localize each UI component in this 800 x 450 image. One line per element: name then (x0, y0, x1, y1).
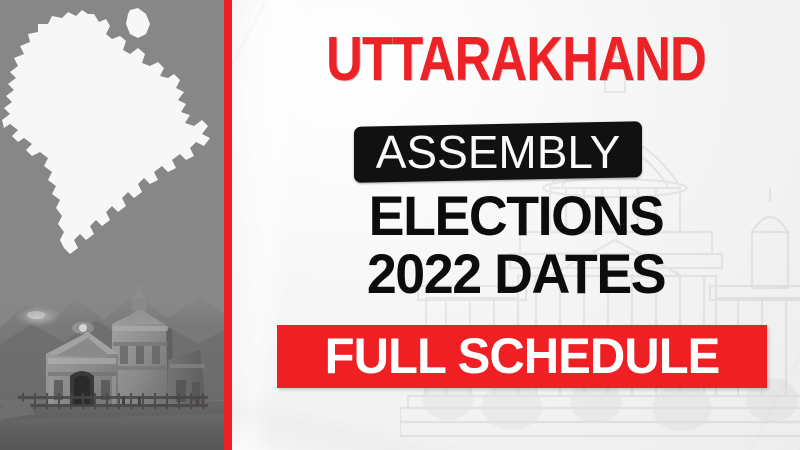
full-schedule-banner-label: FULL SCHEDULE (282, 325, 762, 388)
poster-canvas: UTTARAKHAND ASSEMBLY ELECTIONS 2022 DATE… (0, 0, 800, 450)
subtitle-line-dates: 2022 DATES (243, 246, 788, 302)
assembly-badge: ASSEMBLY (354, 121, 642, 183)
red-vertical-divider (224, 0, 232, 450)
right-panel: UTTARAKHAND ASSEMBLY ELECTIONS 2022 DATE… (232, 0, 800, 450)
subtitle-line-elections: ELECTIONS (243, 188, 788, 244)
page-title: UTTARAKHAND (283, 28, 749, 92)
left-panel (0, 0, 224, 450)
assembly-badge-label: ASSEMBLY (354, 124, 642, 180)
poster-text-stack: UTTARAKHAND ASSEMBLY ELECTIONS 2022 DATE… (232, 0, 800, 450)
kedarnath-temple-photo (0, 280, 224, 450)
full-schedule-banner: FULL SCHEDULE (277, 325, 767, 388)
uttarakhand-map-icon (2, 8, 218, 288)
